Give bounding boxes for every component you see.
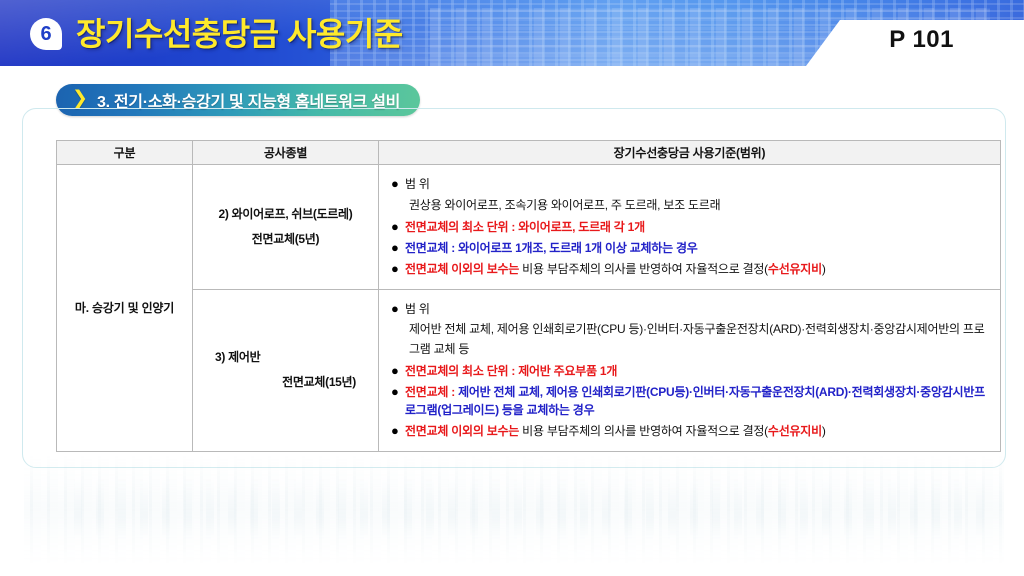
bullet-text: 전면교체 이외의 보수는 비용 부담주체의 의사를 반영하여 자율적으로 결정(… — [405, 260, 990, 279]
bullet-dot-icon: ● — [391, 260, 405, 279]
bullet-text: 전면교체 이외의 보수는 비용 부담주체의 의사를 반영하여 자율적으로 결정(… — [405, 422, 990, 441]
bullet-item: ●전면교체 이외의 보수는 비용 부담주체의 의사를 반영하여 자율적으로 결정… — [391, 422, 990, 441]
chapter-number-badge: 6 — [30, 18, 62, 50]
cell-work-type-1: 2) 와이어로프, 쉬브(도르레) 전면교체(5년) — [193, 165, 379, 290]
cell-category: 마. 승강기 및 인양기 — [57, 165, 193, 452]
bullet-text-segment: 전면교체 이외의 보수는 — [405, 262, 522, 276]
page-title: 장기수선충당금 사용기준 — [76, 9, 403, 55]
bullet-item: ●전면교체의 최소 단위 : 제어반 주요부품 1개 — [391, 362, 990, 381]
bullet-text: 범 위 — [405, 175, 990, 194]
bullet-dot-icon: ● — [391, 383, 405, 402]
bullet-text-segment: 전면교체의 최소 단위 : 와이어로프, 도르래 각 1개 — [405, 220, 645, 234]
skyline-watermark — [24, 455, 1004, 565]
work-type-line-2: 전면교체(5년) — [197, 227, 374, 252]
standards-table: 구분 공사종별 장기수선충당금 사용기준(범위) 마. 승강기 및 인양기 2)… — [56, 140, 1001, 452]
bullet-text: 범 위 — [405, 300, 990, 319]
bullet-dot-icon: ● — [391, 422, 405, 441]
bullet-subtext: 권상용 와이어로프, 조속기용 와이어로프, 주 도르래, 보조 도르래 — [391, 196, 990, 215]
bullet-text-segment: 수선유지비 — [768, 262, 822, 276]
table-row: 3) 제어반 전면교체(15년) ●범 위제어반 전체 교체, 제어용 인쇄회로… — [57, 289, 1001, 451]
chevron-right-icon: ❯ — [72, 92, 88, 108]
bullet-item: ●범 위 — [391, 175, 990, 194]
cell-work-type-2: 3) 제어반 전면교체(15년) — [193, 289, 379, 451]
skyline-watermark-secondary — [60, 478, 990, 540]
table-header-row: 구분 공사종별 장기수선충당금 사용기준(범위) — [57, 141, 1001, 165]
bullet-text-segment: 전면교체 : — [405, 385, 458, 399]
bullet-text: 전면교체 : 제어반 전체 교체, 제어용 인쇄회로기판(CPU등)·인버터·자… — [405, 383, 990, 420]
column-header-work-type: 공사종별 — [193, 141, 379, 165]
cell-usage-standard-1: ●범 위권상용 와이어로프, 조속기용 와이어로프, 주 도르래, 보조 도르래… — [379, 165, 1001, 290]
bullet-text-segment: 범 위 — [405, 177, 430, 191]
bullet-subtext: 제어반 전체 교체, 제어용 인쇄회로기판(CPU 등)·인버터·자동구출운전장… — [391, 320, 990, 358]
bullet-text: 전면교체의 최소 단위 : 제어반 주요부품 1개 — [405, 362, 990, 381]
chapter-number-text: 6 — [40, 24, 51, 44]
bullet-text: 전면교체 : 와이어로프 1개조, 도르래 1개 이상 교체하는 경우 — [405, 239, 990, 258]
bullet-text-segment: 전면교체 이외의 보수는 — [405, 424, 522, 438]
bullet-item: ●전면교체 이외의 보수는 비용 부담주체의 의사를 반영하여 자율적으로 결정… — [391, 260, 990, 279]
bullet-text-segment: 전면교체 : 와이어로프 1개조, 도르래 1개 이상 교체하는 경우 — [405, 241, 698, 255]
bullet-text-segment: 제어반 전체 교체, 제어용 인쇄회로기판(CPU등)·인버터·자동구출운전장치… — [405, 385, 985, 418]
work-type-line-1: 2) 와이어로프, 쉬브(도르레) — [197, 202, 374, 227]
bullet-text-segment: 비용 부담주체의 의사를 반영하여 자율적으로 결정( — [522, 424, 768, 438]
bullet-item: ●범 위 — [391, 300, 990, 319]
column-header-usage-standard: 장기수선충당금 사용기준(범위) — [379, 141, 1001, 165]
bullet-text-segment: 전면교체의 최소 단위 : 제어반 주요부품 1개 — [405, 364, 617, 378]
bullet-text-segment: ) — [822, 424, 826, 438]
bullet-dot-icon: ● — [391, 362, 405, 381]
column-header-category: 구분 — [57, 141, 193, 165]
bullet-text-segment: ) — [822, 262, 826, 276]
bullet-dot-icon: ● — [391, 218, 405, 237]
bullet-text: 전면교체의 최소 단위 : 와이어로프, 도르래 각 1개 — [405, 218, 990, 237]
bullet-dot-icon: ● — [391, 300, 405, 319]
table-head: 구분 공사종별 장기수선충당금 사용기준(범위) — [57, 141, 1001, 165]
bullet-text-segment: 범 위 — [405, 302, 430, 316]
bullet-item: ●전면교체 : 제어반 전체 교체, 제어용 인쇄회로기판(CPU등)·인버터·… — [391, 383, 990, 420]
bullet-item: ●전면교체의 최소 단위 : 와이어로프, 도르래 각 1개 — [391, 218, 990, 237]
work-type-line-1: 3) 제어반 — [197, 345, 374, 370]
cell-usage-standard-2: ●범 위제어반 전체 교체, 제어용 인쇄회로기판(CPU 등)·인버터·자동구… — [379, 289, 1001, 451]
bullet-item: ●전면교체 : 와이어로프 1개조, 도르래 1개 이상 교체하는 경우 — [391, 239, 990, 258]
bullet-dot-icon: ● — [391, 239, 405, 258]
bullet-text-segment: 수선유지비 — [768, 424, 822, 438]
page-number: P 101 — [889, 26, 954, 54]
slide-root: 6 장기수선충당금 사용기준 P 101 ❯ 3. 전기·소화·승강기 및 지능… — [0, 0, 1024, 576]
bullet-text-segment: 비용 부담주체의 의사를 반영하여 자율적으로 결정( — [522, 262, 768, 276]
slide-header: 6 장기수선충당금 사용기준 P 101 — [0, 0, 1024, 66]
work-type-line-2: 전면교체(15년) — [197, 370, 374, 395]
table-body: 마. 승강기 및 인양기 2) 와이어로프, 쉬브(도르레) 전면교체(5년) … — [57, 165, 1001, 452]
bullet-dot-icon: ● — [391, 175, 405, 194]
table-row: 마. 승강기 및 인양기 2) 와이어로프, 쉬브(도르레) 전면교체(5년) … — [57, 165, 1001, 290]
